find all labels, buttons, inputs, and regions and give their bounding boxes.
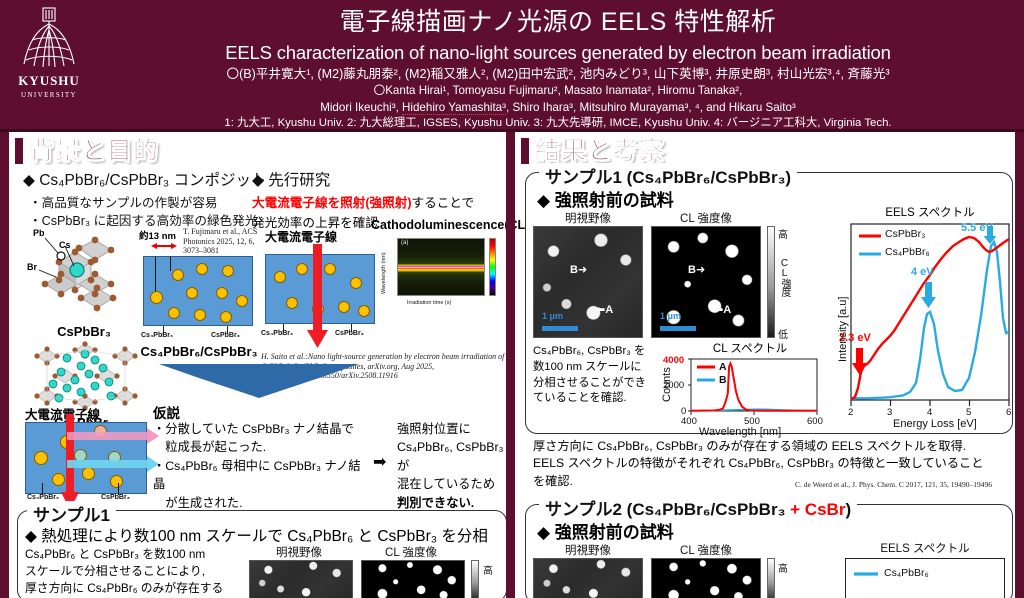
right-sample1-brightfield-image: B➜ ⬅A 1 μm bbox=[533, 226, 643, 338]
right-sample1-heading: ◆ 強照射前の試料 bbox=[537, 186, 674, 211]
schematic1-reference: T. Fujimaru et al., ACS Photonics 2025, … bbox=[183, 227, 267, 256]
eels-spectrum-chart: EELS スペクトル bbox=[825, 204, 1017, 430]
left-sample1-cl-image bbox=[361, 560, 465, 598]
cl-ytick-4000: 4000 bbox=[663, 355, 684, 366]
hypothesis-left-label: Cs₄PbBr₆ bbox=[27, 494, 59, 501]
authors-en2-pre: Midori Ikeuchi³, bbox=[320, 101, 402, 114]
right-sample2-colorbar bbox=[767, 558, 775, 598]
eels-xtick-4: 4 bbox=[927, 407, 932, 418]
heading-prior-research: ◆ 先行研究 bbox=[252, 168, 330, 190]
right-sample1-cap-cl: CL 強度像 bbox=[651, 210, 761, 226]
right-sample1-label: サンプル1 (Cs₄PbBr₆/CsPbBr₃) bbox=[539, 163, 797, 188]
atom-label-br: Br bbox=[27, 262, 37, 272]
schematic2-beam-label: 大電流電子線 bbox=[265, 228, 337, 245]
authors-english-line1: 〇Kanta Hirai¹, Tomoyasu Fujimaru², Masat… bbox=[96, 83, 1020, 98]
crystal-structure-cspbbr3: Pb Cs Br bbox=[25, 228, 143, 328]
eels-xlabel: Energy Loss [eV] bbox=[893, 418, 977, 430]
poster-body: 背景と目的 ◆ Cs₄PbBr₆/CsPbBr₃ コンポジット ◆ 先行研究 ・… bbox=[0, 132, 1024, 598]
cl-xtick-400: 400 bbox=[681, 416, 697, 427]
cl-marker-a: ⬅A bbox=[714, 303, 731, 316]
right-sample2-cap-bf: 明視野像 bbox=[533, 542, 643, 558]
right-sample2-eels-title: EELS スペクトル bbox=[845, 540, 1005, 556]
conclusion-line-2: Cs₄PbBr₆, CsPbBr₃ が bbox=[397, 438, 515, 475]
left-sample1-heading: ◆ 熱処理により数100 nm スケールで Cs₄PbBr₆ と CsPbBr₃… bbox=[25, 524, 488, 546]
left-sample1-body-2: スケールで分相させることにより, bbox=[25, 563, 245, 580]
eels-xtick-3: 3 bbox=[887, 407, 892, 418]
right-sample1-cl-image: B➜ ⬅A 1 μm bbox=[651, 226, 761, 338]
logo-subtitle: UNIVERSITY bbox=[21, 91, 77, 99]
cl-scalebar bbox=[660, 326, 696, 331]
conclusion-line-1: 強照射位置に bbox=[397, 420, 515, 438]
section-header-background: 背景と目的 bbox=[9, 135, 506, 167]
atom-label-pb: Pb bbox=[33, 228, 45, 238]
bullet-1: ・高品質なサンプルの作製が容易 bbox=[29, 194, 218, 212]
title-block: 電子線描画ナノ光源の EELS 特性解析 EELS characterizati… bbox=[96, 2, 1020, 131]
right-sample1-cap-bf: 明視野像 bbox=[533, 210, 643, 226]
kyushu-university-crest-icon bbox=[18, 6, 80, 72]
cl-map-image: (a) bbox=[397, 238, 485, 296]
right-sample2-heading: ◆ 強照射前の試料 bbox=[537, 518, 674, 543]
page-title-ja: 電子線描画ナノ光源の EELS 特性解析 bbox=[96, 2, 1020, 40]
eels-ylabel: Intensity [a.u] bbox=[837, 297, 849, 362]
schematic2-left-label: Cs₄PbBr₆ bbox=[261, 330, 293, 337]
right-sample2-legend-label: Cs₄PbBr₆ bbox=[884, 567, 929, 579]
cl-spectrum-chart: CL スペクトル bbox=[645, 340, 827, 436]
grain-growth-arrow-pink-icon bbox=[67, 428, 159, 444]
left-sample1-cap-bf: 明視野像 bbox=[249, 544, 349, 560]
authors-english-line2: Midori Ikeuchi³, Hidehiro Yamashita³, Sh… bbox=[96, 100, 1020, 115]
hypothesis-item-1: ・分散していた CsPbBr₃ ナノ結晶で bbox=[153, 420, 373, 438]
size-double-arrow-icon bbox=[151, 240, 177, 252]
bf-scalebar-text: 1 μm bbox=[542, 311, 563, 321]
affiliations: 1: 九大工, Kyushu Univ. 2: 九大総理工, IGSES, Ky… bbox=[96, 116, 1020, 131]
left-sample1-body-3: 厚さ方向に Cs₄PbBr₆ のみが存在する bbox=[25, 580, 245, 597]
right-sample2-label-red: + CsBr bbox=[790, 500, 845, 519]
section-accent-bar bbox=[15, 138, 23, 164]
eels-spectrum-title: EELS スペクトル bbox=[845, 204, 1015, 220]
right-sample2-cl-image bbox=[651, 558, 761, 598]
nanocrystal-arrow-cyan-icon bbox=[67, 456, 159, 472]
poster-header: KYUSHU UNIVERSITY 電子線描画ナノ光源の EELS 特性解析 E… bbox=[0, 0, 1024, 132]
schematic1-left-label: Cs₄PbBr₆ bbox=[141, 332, 173, 339]
cl-map-title: Cathodoluminescence(CL) bbox=[371, 218, 513, 232]
cl-map-figure: (a) Wavelength (nm) Intensity Irradiatio… bbox=[371, 234, 513, 316]
hypothesis-title: 仮説 bbox=[153, 402, 180, 422]
right-sample1-cbar-title: CL強度 bbox=[777, 258, 792, 296]
page-title-en: EELS characterization of nano-light sour… bbox=[96, 41, 1020, 65]
right-sample1-colorbar bbox=[767, 226, 775, 338]
right-sample2-brightfield-image bbox=[533, 558, 643, 598]
hypothesis-right-label: CsPbBr₃ bbox=[101, 494, 130, 501]
left-sample1-brightfield-image bbox=[249, 560, 353, 598]
prior-research-highlight: 大電流電子線を照射(強照射) bbox=[252, 196, 412, 210]
bf-marker-b: B➜ bbox=[570, 263, 587, 276]
right-sample1-footer-2: EELS スペクトルの特徴がそれぞれ Cs₄PbBr₆, CsPbBr₃ の特徴… bbox=[533, 455, 1009, 472]
left-sample1-colorbar-high: 高 bbox=[483, 562, 493, 577]
authors-en2-underlined: Hidehiro Yamashita³ bbox=[402, 101, 506, 115]
cl-ylabel: Counts bbox=[661, 367, 673, 402]
schematic1-caption: Cs₄PbBr₆/CsPbBr₃ bbox=[139, 344, 259, 359]
right-sample1-cbar-low: 低 bbox=[778, 326, 788, 341]
right-sample2-label-pre: サンプル2 (Cs₄PbBr₆/CsPbBr₃ bbox=[545, 500, 790, 519]
university-logo: KYUSHU UNIVERSITY bbox=[6, 4, 92, 126]
section-title-background: 背景と目的 bbox=[29, 139, 159, 164]
annotation-5p5ev: 5.5 eV bbox=[961, 222, 993, 234]
hypothesis-list: ・分散していた CsPbBr₃ ナノ結晶で 粒成長が起こった. ・Cs₄PbBr… bbox=[153, 420, 373, 512]
right-sample2-label-post: ) bbox=[845, 500, 851, 519]
hypothesis-item-2: 粒成長が起こった. bbox=[153, 438, 373, 456]
cl-legend-a: A bbox=[719, 361, 727, 373]
eels-xtick-2: 2 bbox=[848, 407, 853, 418]
logo-name: KYUSHU bbox=[18, 73, 80, 89]
left-sample1-cap-cl: CL 強度像 bbox=[361, 544, 461, 560]
atom-label-cs: Cs bbox=[59, 240, 71, 250]
right-sample2-cap-cl: CL 強度像 bbox=[651, 542, 761, 558]
eels-xtick-6: 6 bbox=[1006, 407, 1011, 418]
poster-root: KYUSHU UNIVERSITY 電子線描画ナノ光源の EELS 特性解析 E… bbox=[0, 0, 1024, 598]
cl-map-panel: Cathodoluminescence(CL) (a) Wavelength (… bbox=[371, 218, 513, 316]
schematic1-right-label: CsPbBr₃ bbox=[211, 332, 240, 339]
annotation-4ev: 4 eV bbox=[911, 266, 934, 278]
bf-marker-a: ⬅A bbox=[596, 303, 613, 316]
cl-scalebar-text: 1 μm bbox=[660, 311, 681, 321]
cl-map-xlabel: Irradiation time (s) bbox=[407, 300, 451, 306]
authors-en2-post: , Shiro Ihara³, Mitsuhiro Murayama³, ⁴, … bbox=[506, 101, 796, 114]
cl-map-ylabel: Wavelength (nm) bbox=[381, 252, 387, 294]
electron-beam-arrow-icon bbox=[307, 244, 329, 348]
right-sample1-footer-1: 厚さ方向に Cs₄PbBr₆, CsPbBr₃ のみが存在する領域の EELS … bbox=[533, 438, 1009, 455]
eels-legend-cspbbr3: CsPbBr₃ bbox=[885, 228, 925, 240]
cl-xtick-600: 600 bbox=[807, 416, 823, 427]
composite-matrix-diagram bbox=[143, 256, 253, 326]
cl-map-panel-tag: (a) bbox=[401, 240, 408, 246]
prior-research-rest: することで bbox=[412, 196, 475, 210]
bf-scalebar bbox=[542, 326, 578, 331]
right-sample2-cbar-high: 高 bbox=[778, 560, 788, 575]
left-sample1-body: Cs₄PbBr₆ と CsPbBr₃ を数100 nm スケールで分相させること… bbox=[25, 546, 245, 597]
eels-xtick-5: 5 bbox=[966, 407, 971, 418]
right-sample1-cbar-high: 高 bbox=[778, 226, 788, 241]
crystal-structure-cspbbr3-icon bbox=[25, 228, 143, 328]
cl-marker-b: B➜ bbox=[688, 263, 705, 276]
hypothesis-item-3: ・Cs₄PbBr₆ 母相中に CsPbBr₃ ナノ結晶 bbox=[153, 457, 373, 494]
flow-arrow-down bbox=[159, 364, 359, 403]
left-sample1-colorbar bbox=[471, 560, 479, 598]
schematic-beam-irradiation: 大電流電子線 Cs₄PbBr₆ CsPb bbox=[261, 228, 381, 352]
cl-legend-b: B bbox=[719, 374, 727, 386]
section-accent-bar-results bbox=[521, 138, 529, 164]
left-sample1-label: サンプル1 bbox=[27, 501, 116, 526]
conclusion-arrow-icon: ➡ bbox=[373, 452, 386, 472]
right-column: 結果と考察 サンプル1 (Cs₄PbBr₆/CsPbBr₃) ◆ 強照射前の試料… bbox=[506, 132, 1024, 598]
hypothesis-conclusion: 強照射位置に Cs₄PbBr₆, CsPbBr₃ が 混在しているため 判別でき… bbox=[397, 420, 515, 512]
cl-map-colorbar bbox=[489, 238, 496, 296]
right-sample2-eels-plot: Cs₄PbBr₆ bbox=[845, 558, 1005, 598]
left-sample1-body-1: Cs₄PbBr₆ と CsPbBr₃ を数100 nm bbox=[25, 546, 245, 563]
eels-legend-cs4pbbr6: Cs₄PbBr₆ bbox=[885, 246, 930, 258]
flow-arrow-down-icon bbox=[159, 364, 359, 398]
left-column: 背景と目的 ◆ Cs₄PbBr₆/CsPbBr₃ コンポジット ◆ 先行研究 ・… bbox=[0, 132, 506, 598]
schematic2-right-label: CsPbBr₃ bbox=[335, 330, 364, 337]
crystal-label-cspbbr3: CsPbBr₃ bbox=[25, 324, 143, 339]
section-title-results: 結果と考察 bbox=[535, 139, 665, 164]
right-sample1-reference: C. de Weerd et al., J. Phys. Chem. C 201… bbox=[795, 480, 992, 489]
right-sample2-label: サンプル2 (Cs₄PbBr₆/CsPbBr₃ + CsBr) bbox=[539, 495, 857, 520]
heading-composite: ◆ Cs₄PbBr₆/CsPbBr₃ コンポジット bbox=[23, 168, 267, 190]
cl-xlabel: Wavelength [nm] bbox=[699, 426, 781, 438]
authors-japanese: 〇(B)平井寛大¹, (M2)藤丸朋泰², (M2)稲又雅人², (M2)田中宏… bbox=[96, 66, 1020, 83]
conclusion-line-3: 混在しているため bbox=[397, 475, 515, 493]
